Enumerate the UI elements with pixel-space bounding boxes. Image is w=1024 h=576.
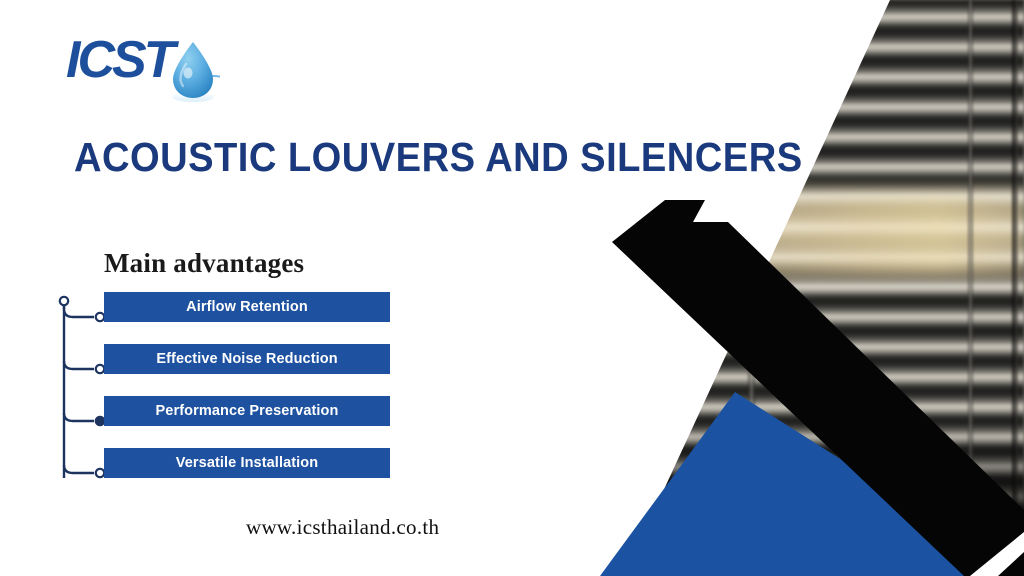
section-heading: Main advantages [104, 248, 304, 279]
logo-wordmark: ICST [66, 34, 172, 86]
connector-node [96, 417, 104, 425]
advantage-bar-performance-preservation[interactable]: Performance Preservation [104, 396, 390, 426]
louver-frame-post [748, 0, 755, 576]
louver-frame-post [1012, 0, 1018, 576]
connector-node [96, 313, 104, 321]
connector-node-top [60, 297, 68, 305]
louver-bottom-shadow [600, 426, 1024, 576]
website-url[interactable]: www.icsthailand.co.th [246, 515, 439, 540]
advantage-bar-versatile-installation[interactable]: Versatile Installation [104, 448, 390, 478]
advantage-label: Performance Preservation [156, 403, 339, 419]
black-diagonal-arrow-band [560, 180, 1024, 576]
connector-node [96, 365, 104, 373]
page-title: ACOUSTIC LOUVERS AND SILENCERS [74, 136, 651, 179]
louver-warm-light-band-inner [740, 196, 1024, 274]
advantage-label: Effective Noise Reduction [156, 351, 337, 367]
advantage-bars: Airflow Retention Effective Noise Reduct… [104, 292, 394, 478]
acoustic-louver-photo [600, 0, 1024, 576]
advantage-label: Airflow Retention [186, 299, 308, 315]
louver-warm-light-band [600, 176, 1024, 296]
advantage-bar-effective-noise-reduction[interactable]: Effective Noise Reduction [104, 344, 390, 374]
slide-canvas: ICST [0, 0, 1024, 576]
louver-slats [600, 0, 1024, 576]
louver-frame-post [968, 0, 973, 576]
white-separator-sliver [740, 300, 1024, 576]
connector-node [96, 469, 104, 477]
advantage-bar-airflow-retention[interactable]: Airflow Retention [104, 292, 390, 322]
icst-logo[interactable]: ICST [66, 28, 246, 106]
advantages-list: Airflow Retention Effective Noise Reduct… [56, 292, 401, 498]
advantage-label: Versatile Installation [176, 455, 318, 471]
blue-triangle-shape [560, 380, 1024, 576]
water-drop-icon [168, 40, 220, 102]
